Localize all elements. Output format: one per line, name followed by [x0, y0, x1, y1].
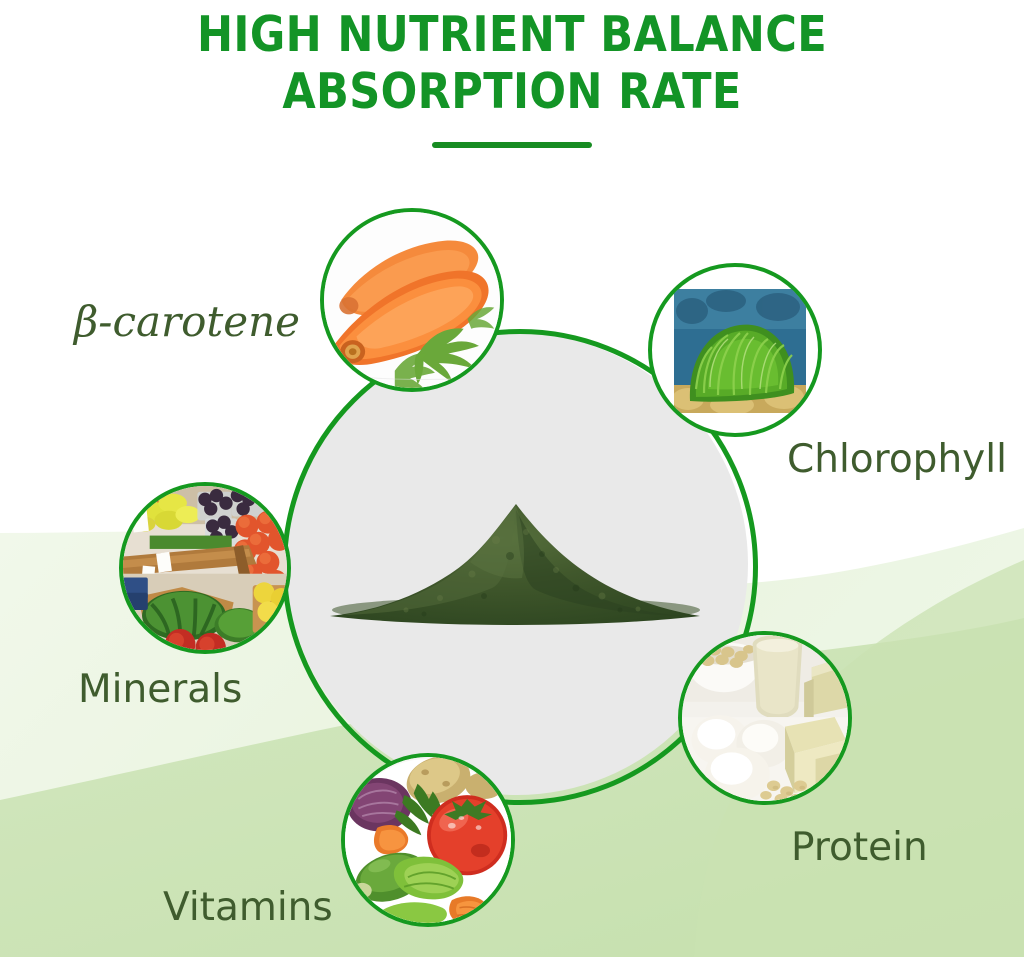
node-minerals-circle: [119, 482, 291, 654]
vegetables-image: [345, 757, 511, 923]
node-label-vitamins: Vitamins: [163, 886, 333, 930]
heading-line-1: HIGH NUTRIENT BALANCE: [61, 6, 962, 63]
node-protein[interactable]: [678, 631, 852, 805]
node-label-protein: Protein: [791, 826, 928, 870]
protein-foods-image: [682, 635, 848, 801]
node-label-minerals: Minerals: [78, 668, 242, 712]
poster-heading: HIGH NUTRIENT BALANCE ABSORPTION RATE: [0, 6, 1024, 148]
node-vitamins[interactable]: [341, 753, 515, 927]
carrots-image: [324, 212, 500, 388]
node-beta-carotene-circle: [320, 208, 504, 392]
seaweed-image: [674, 289, 806, 413]
node-minerals[interactable]: [119, 482, 291, 654]
node-label-chlorophyll: Chlorophyll: [787, 438, 1007, 482]
infographic-poster: HIGH NUTRIENT BALANCE ABSORPTION RATE: [0, 0, 1024, 957]
node-vitamins-circle: [341, 753, 515, 927]
node-label-beta-carotene: β-carotene: [74, 300, 300, 344]
node-chlorophyll-circle: [648, 263, 822, 437]
heading-divider-rule: [432, 142, 592, 148]
node-chlorophyll[interactable]: [648, 263, 822, 437]
heading-line-2: ABSORPTION RATE: [61, 63, 962, 120]
node-protein-circle: [678, 631, 852, 805]
node-beta-carotene[interactable]: [320, 208, 504, 392]
market-produce-image: [123, 486, 287, 650]
